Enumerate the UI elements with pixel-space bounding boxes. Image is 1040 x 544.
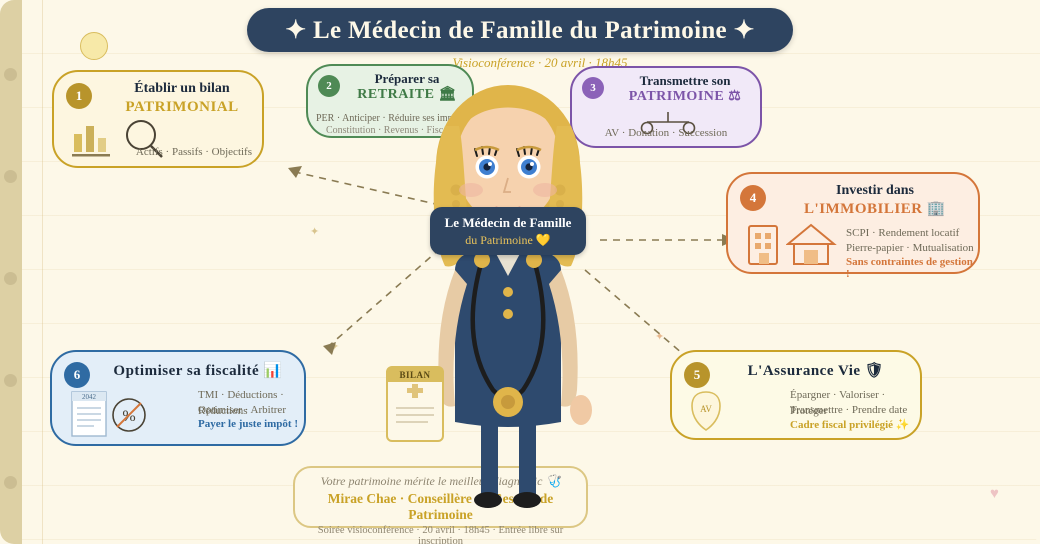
card-subtext-secondary: Transmettre · Prendre date (790, 403, 907, 419)
house-icon (786, 222, 838, 266)
card-number-badge: 6 (64, 362, 90, 388)
card-subtext: SCPI · Rendement locatif (846, 226, 959, 242)
decorative-sparkle-icon: ✦ (330, 340, 339, 353)
decorative-sparkle-icon: ✦ (310, 225, 319, 238)
card-number-badge: 4 (740, 185, 766, 211)
shoe-left (474, 492, 502, 508)
clipboard-label: BILAN (388, 368, 442, 382)
card-investir-immobilier[interactable]: 4 Investir dans L'IMMOBILIER 🏢 SCPI · Re… (726, 172, 980, 274)
card-keyword: L'IMMOBILIER 🏢 (728, 200, 978, 218)
card-subtext: Actifs · Passifs · Objectifs (136, 145, 252, 161)
card-accent-text: Payer le juste impôt ! (198, 418, 298, 430)
av-shield-icon: AV (688, 390, 724, 432)
card-optimiser-fiscalite[interactable]: 6 Optimiser sa fiscalité 📊 2042 % TMI · … (50, 350, 306, 446)
binder-hole (4, 170, 17, 183)
page-title: ✦ Le Médecin de Famille du Patrimoine ✦ (247, 8, 793, 52)
card-accent-text: Cadre fiscal privilégié ✨ (790, 418, 910, 431)
doctor-character-illustration (415, 70, 625, 530)
leg-left (481, 422, 498, 496)
svg-text:AV: AV (700, 404, 712, 414)
coat-button (503, 309, 513, 319)
card-accent-text: Sans contraintes de gestion ! (846, 256, 978, 280)
center-badge-line2: du Patrimoine 💛 (465, 233, 551, 248)
medical-cross-icon (388, 382, 442, 438)
binder-hole (4, 374, 17, 387)
bar-chart-icon (70, 120, 116, 160)
blush-right (533, 183, 557, 197)
card-number-badge: 5 (684, 362, 710, 388)
shoe-right (513, 492, 541, 508)
card-assurance-vie[interactable]: 5 L'Assurance Vie 🛡 AV Épargner · Valori… (670, 350, 922, 440)
hand-right (570, 395, 592, 425)
card-subtext-secondary: Pierre-papier · Mutualisation (846, 241, 974, 257)
apartment-building-icon (746, 222, 782, 266)
svg-text:2042: 2042 (82, 393, 97, 401)
leg-right (519, 422, 536, 496)
center-brand-badge[interactable]: Le Médecin de Famille du Patrimoine 💛 (430, 207, 586, 255)
binder-hole (4, 272, 17, 285)
binder-hole (4, 68, 17, 81)
binder-hole (4, 476, 17, 489)
no-tax-percent-icon: % (110, 396, 148, 434)
blush-left (459, 183, 483, 197)
center-badge-line1: Le Médecin de Famille (445, 215, 572, 231)
tax-form-2042-icon: 2042 (70, 390, 110, 438)
notebook-margin-rule (42, 0, 43, 544)
bilan-clipboard[interactable]: BILAN (386, 366, 444, 442)
decorative-circle (80, 32, 108, 60)
card-subtext-secondary: Optimiser · Arbitrer (198, 403, 286, 419)
card-number-badge: 2 (318, 75, 340, 97)
card-bilan-patrimonial[interactable]: 1 Établir un bilan PATRIMONIAL Actifs · … (52, 70, 264, 168)
decorative-heart-icon: ♥ (990, 486, 999, 503)
card-number-badge: 1 (66, 83, 92, 109)
coat-button (503, 287, 513, 297)
face (456, 100, 560, 224)
infographic-canvas: ♥ ✦ ✦ ✦ 1 Établir un bilan PATRIMONIAL (0, 0, 1040, 544)
decorative-sparkle-icon: ✦ (655, 330, 664, 343)
